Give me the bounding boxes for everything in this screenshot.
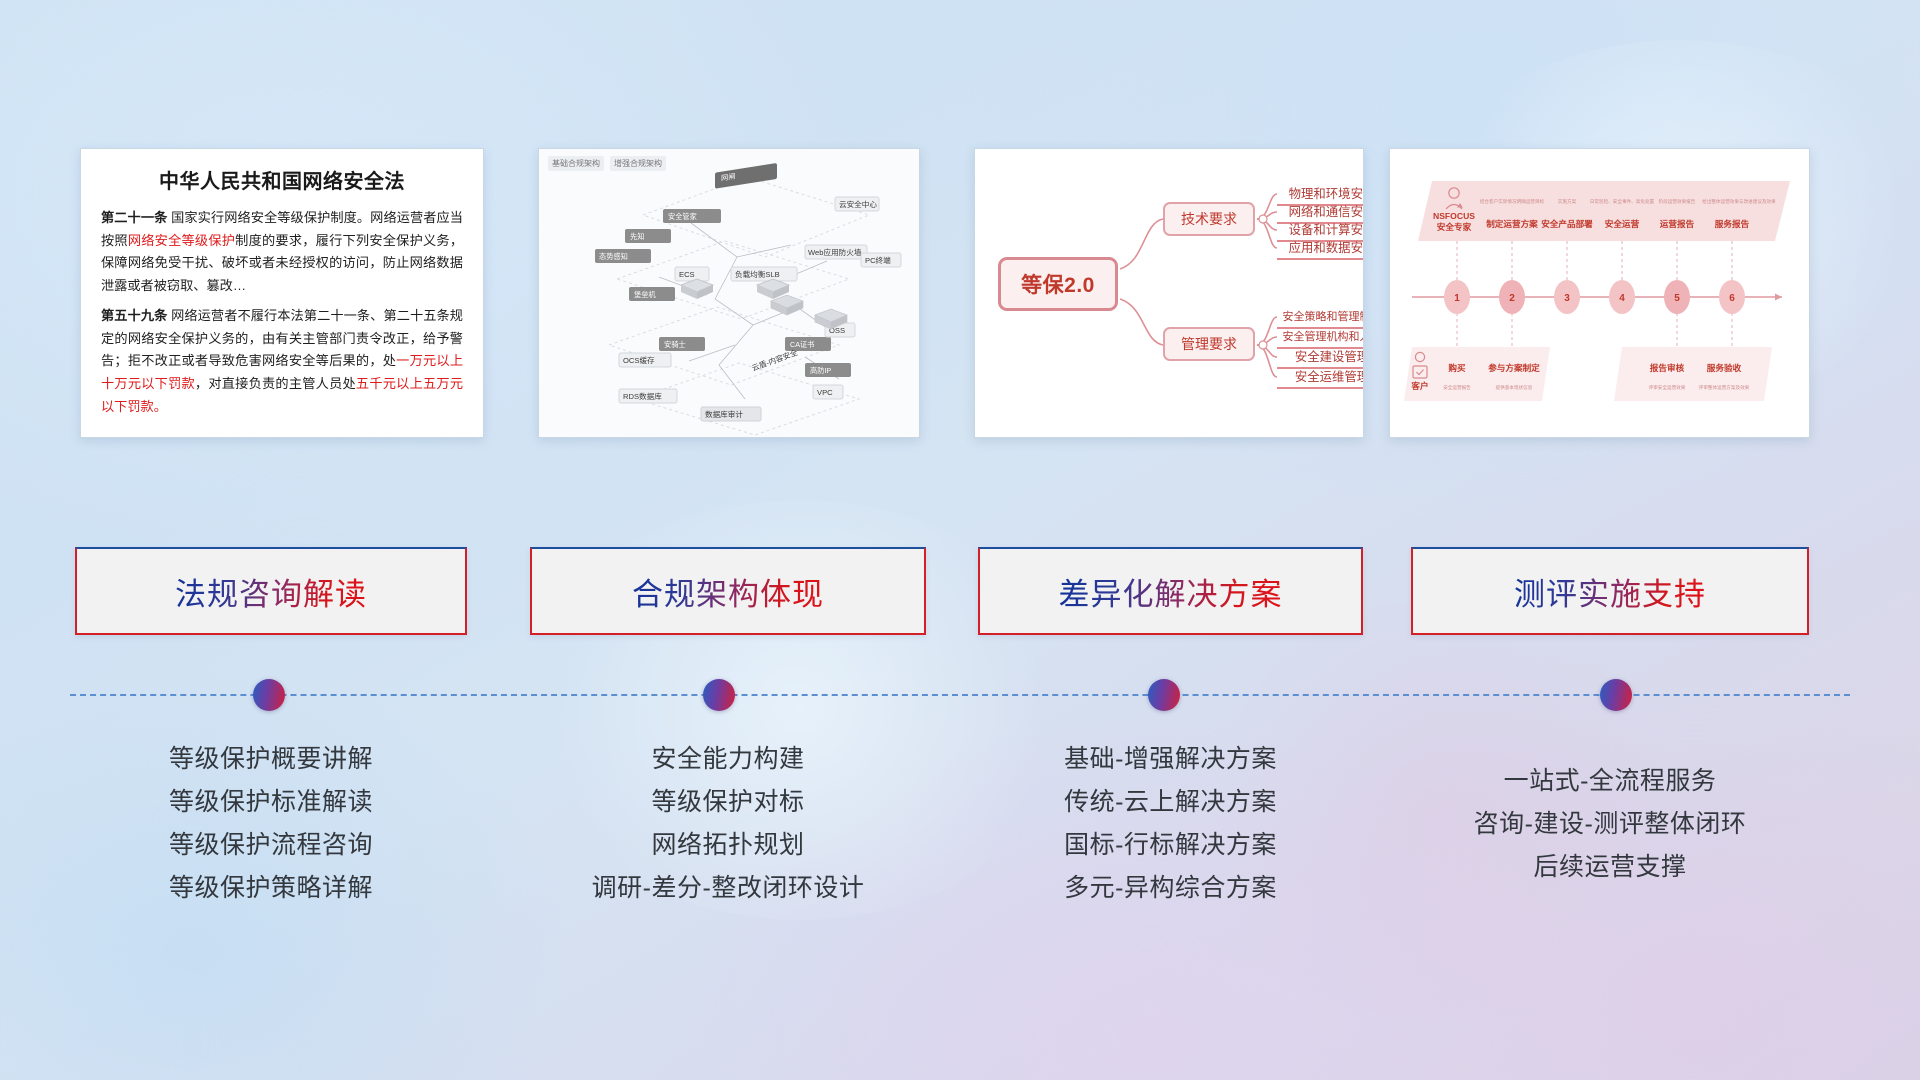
expert-label-line1: NSFOCUS (1433, 211, 1475, 221)
heading-box-assessment-support[interactable]: 测评实施支持 (1411, 547, 1809, 635)
arch-node-label: 先知 (630, 232, 644, 241)
law-article-59: 第五十九条 网络运营者不履行本法第二十一条、第二十五条规定的网络安全保护义务的，… (101, 305, 463, 419)
card-mindmap-dengbao[interactable]: 等保2.0 技术要求 管理要求 物理和环境安全 网络和通信安全 设备和计算安全 … (974, 148, 1364, 438)
stage-title: 报告审核 (1650, 362, 1685, 373)
stage-note: 评审安全运营效果 (1649, 384, 1686, 391)
arch-node-label: 安骑士 (664, 340, 686, 349)
stage-title: 参与方案制定 (1488, 362, 1540, 373)
list-item: 等级保护策略详解 (75, 867, 467, 910)
arch-node-label: 堡垒机 (634, 290, 656, 299)
stage-title: 服务验收 (1707, 362, 1742, 373)
card-nsfocus-timeline[interactable]: 1 2 3 4 5 6 NSFOCUS 安全专家 客户 制定运营方案 安全产品部… (1389, 148, 1810, 438)
list-item: 后续运营支撑 (1411, 846, 1809, 889)
list-item: 基础-增强解决方案 (978, 738, 1363, 781)
heading-label: 差异化解决方案 (1059, 569, 1283, 614)
arch-node-label: 负载均衡SLB (735, 269, 780, 279)
stage-note: 评审整体运营方案及效果 (1699, 384, 1750, 391)
article-21-highlight: 网络安全等级保护 (128, 233, 235, 248)
law-body: 中华人民共和国网络安全法 第二十一条 国家实行网络安全等级保护制度。网络运营者应… (81, 149, 483, 428)
step-number: 3 (1564, 293, 1570, 304)
heading-box-differentiated-solution[interactable]: 差异化解决方案 (978, 547, 1363, 635)
mindmap-leaf: 应用和数据安全 (1277, 236, 1364, 260)
mindmap-branch-technical: 技术要求 (1163, 202, 1255, 236)
preview-cards-row: 中华人民共和国网络安全法 第二十一条 国家实行网络安全等级保护制度。网络运营者应… (0, 148, 1920, 448)
card-cybersecurity-law[interactable]: 中华人民共和国网络安全法 第二十一条 国家实行网络安全等级保护制度。网络运营者应… (80, 148, 484, 438)
arch-node-label: PC终端 (865, 255, 891, 265)
list-item: 国标-行标解决方案 (978, 824, 1363, 867)
heading-box-compliance-architecture[interactable]: 合规架构体现 (530, 547, 926, 635)
stage-note: 结合客户实际情况明确运营目标 (1480, 198, 1545, 205)
list-item: 咨询-建设-测评整体闭环 (1411, 803, 1809, 846)
heading-label: 合规架构体现 (632, 569, 824, 614)
arch-node-label: ECS (679, 270, 695, 279)
arch-node-label: 数据库审计 (705, 409, 743, 419)
detail-list-assessment-support: 一站式-全流程服务 咨询-建设-测评整体闭环 后续运营支撑 (1411, 760, 1809, 889)
arch-node-label: VPC (817, 388, 833, 397)
arch-node-label: 安全管家 (668, 212, 697, 221)
stage-note: 提供基本现状信息 (1496, 384, 1533, 391)
detail-list-differentiated-solution: 基础-增强解决方案 传统-云上解决方案 国标-行标解决方案 多元-异构综合方案 (978, 738, 1363, 910)
detail-list-regulation-consulting: 等级保护概要讲解 等级保护标准解读 等级保护流程咨询 等级保护策略详解 (75, 738, 467, 910)
stage-title: 制定运营方案 (1486, 218, 1538, 229)
list-item: 调研-差分-整改闭环设计 (530, 867, 926, 910)
mindmap: 等保2.0 技术要求 管理要求 物理和环境安全 网络和通信安全 设备和计算安全 … (975, 149, 1363, 437)
stage-title: 安全运营 (1605, 218, 1640, 229)
list-item: 一站式-全流程服务 (1411, 760, 1809, 803)
step-number: 1 (1454, 293, 1460, 304)
arch-node-label: OCS缓存 (623, 355, 655, 365)
stage-note: 阶段运营效果报告 (1659, 198, 1696, 205)
timeline-dot-3[interactable] (1148, 679, 1180, 711)
arch-node-label: 云安全中心 (839, 199, 877, 209)
article-21-label: 第二十一条 (101, 210, 167, 225)
timeline-dot-2[interactable] (703, 679, 735, 711)
arch-node-label: 高防IP (810, 366, 831, 375)
timeline-dot-4[interactable] (1600, 679, 1632, 711)
architecture-canvas: 网闸 安全管家 先知 态势感知 (539, 149, 920, 438)
law-title: 中华人民共和国网络安全法 (101, 165, 463, 194)
list-item: 等级保护流程咨询 (75, 824, 467, 867)
timeline-arrow-head (1775, 294, 1782, 301)
operation-timeline: 1 2 3 4 5 6 NSFOCUS 安全专家 客户 制定运营方案 安全产品部… (1390, 149, 1809, 437)
stage-title: 运营报告 (1660, 218, 1695, 229)
stage-note: 安全运营报告 (1443, 384, 1471, 391)
timeline-dot-1[interactable] (253, 679, 285, 711)
mindmap-leaf: 安全运维管理 (1277, 365, 1364, 389)
list-item: 等级保护对标 (530, 781, 926, 824)
arch-node-label: RDS数据库 (623, 391, 662, 401)
step-number: 4 (1619, 293, 1625, 304)
list-item: 多元-异构综合方案 (978, 867, 1363, 910)
detail-list-compliance-architecture: 安全能力构建 等级保护对标 网络拓扑规划 调研-差分-整改闭环设计 (530, 738, 926, 910)
arch-edge-label: 云盾-内容安全 (750, 347, 799, 373)
timeline-dashed-axis (70, 694, 1850, 696)
list-item: 网络拓扑规划 (530, 824, 926, 867)
stage-note: 实施方案 (1558, 198, 1577, 205)
card-cloud-architecture[interactable]: 基础合规架构 增强合规架构 (538, 148, 920, 438)
article-59-label: 第五十九条 (101, 308, 167, 323)
arch-node-group-dark: 网闸 安全管家 先知 态势感知 (595, 163, 851, 377)
mindmap-root-node: 等保2.0 (998, 257, 1118, 311)
arch-node-label: Web应用防火墙 (808, 247, 862, 257)
arch-node-label: CA证书 (790, 340, 814, 349)
list-item: 传统-云上解决方案 (978, 781, 1363, 824)
step-number: 5 (1674, 293, 1680, 304)
timeline-canvas: 1 2 3 4 5 6 NSFOCUS 安全专家 客户 制定运营方案 安全产品部… (1390, 149, 1810, 438)
customer-label: 客户 (1410, 380, 1428, 391)
stage-title: 购买 (1448, 362, 1466, 373)
stage-title: 服务报告 (1715, 218, 1750, 229)
architecture-diagram: 基础合规架构 增强合规架构 (539, 149, 919, 437)
article-59-text-b: ，对直接负责的主管人员处 (195, 376, 356, 391)
list-item: 等级保护标准解读 (75, 781, 467, 824)
detail-lists-row: 等级保护概要讲解 等级保护标准解读 等级保护流程咨询 等级保护策略详解 安全能力… (0, 738, 1920, 968)
stage-title: 安全产品部署 (1541, 218, 1593, 229)
stage-note: 给出整体运营效果与改进建议及效果 (1702, 198, 1776, 205)
stage-note: 日常巡检、安全事件、高危处置 (1590, 198, 1655, 205)
expert-label-line2: 安全专家 (1437, 221, 1472, 232)
heading-label: 测评实施支持 (1514, 569, 1706, 614)
timeline-top-notes: 结合客户实际情况明确运营目标 实施方案 日常巡检、安全事件、高危处置 阶段运营效… (1480, 198, 1776, 205)
step-number: 6 (1729, 293, 1735, 304)
heading-label: 法规咨询解读 (175, 569, 367, 614)
arch-node-label: 态势感知 (599, 252, 628, 261)
list-item: 等级保护概要讲解 (75, 738, 467, 781)
step-number: 2 (1509, 293, 1515, 304)
list-item: 安全能力构建 (530, 738, 926, 781)
law-article-21: 第二十一条 国家实行网络安全等级保护制度。网络运营者应当按照网络安全等级保护制度… (101, 207, 463, 298)
heading-boxes-row: 法规咨询解读 合规架构体现 差异化解决方案 测评实施支持 (0, 547, 1920, 647)
mindmap-branch-management: 管理要求 (1163, 327, 1255, 361)
heading-box-regulation-consulting[interactable]: 法规咨询解读 (75, 547, 467, 635)
